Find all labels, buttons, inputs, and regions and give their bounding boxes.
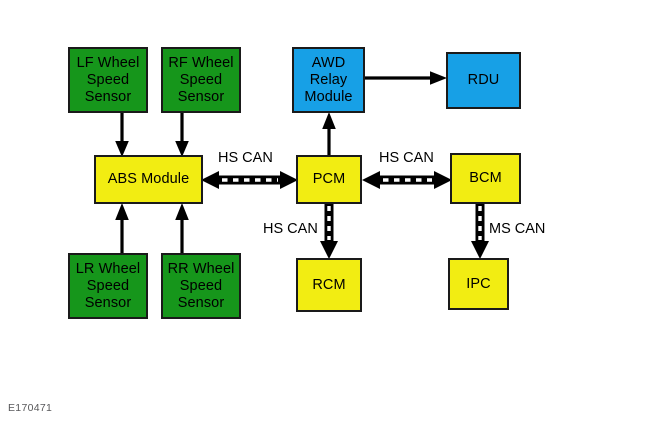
reference-code: E170471: [8, 402, 52, 414]
node-rcm: RCM: [296, 258, 362, 312]
connector-pcm-to-awd: [319, 111, 339, 157]
node-rf-wheel-speed-sensor: RF Wheel Speed Sensor: [161, 47, 241, 113]
connector-bcm-to-ipc-ms-can: [470, 203, 490, 260]
node-label-line: Speed: [180, 72, 222, 89]
edge-label-bcm-ipc: MS CAN: [489, 221, 545, 237]
edge-label-pcm-bcm: HS CAN: [379, 150, 434, 166]
node-label-line: Sensor: [85, 295, 132, 312]
connector-abs-to-pcm-hs-can: [201, 170, 298, 190]
edge-label-abs-pcm: HS CAN: [218, 150, 273, 166]
diagram-canvas: LF Wheel Speed Sensor RF Wheel Speed Sen…: [0, 0, 650, 426]
connector-rr-sensor-to-abs: [172, 201, 192, 255]
connector-pcm-to-rcm-hs-can: [319, 203, 339, 260]
node-label-line: RR Wheel: [168, 261, 235, 278]
node-rr-wheel-speed-sensor: RR Wheel Speed Sensor: [161, 253, 241, 319]
node-label-line: Speed: [87, 72, 129, 89]
node-label-line: Sensor: [178, 89, 225, 106]
connector-lr-sensor-to-abs: [112, 201, 132, 255]
node-label-line: ABS Module: [108, 171, 190, 188]
node-pcm: PCM: [296, 155, 362, 204]
node-label-line: RDU: [468, 72, 500, 89]
node-ipc: IPC: [448, 258, 509, 310]
node-label-line: Relay: [310, 72, 348, 89]
node-bcm: BCM: [450, 153, 521, 204]
node-label-line: Module: [304, 89, 352, 106]
connector-lf-sensor-to-abs: [112, 111, 132, 159]
node-label-line: LF Wheel: [77, 55, 140, 72]
node-label-line: AWD: [312, 55, 346, 72]
node-label-line: RCM: [312, 277, 345, 294]
node-label-line: Sensor: [178, 295, 225, 312]
node-label-line: Speed: [87, 278, 129, 295]
connector-awd-to-rdu: [363, 68, 449, 88]
edge-label-pcm-rcm: HS CAN: [263, 221, 318, 237]
connector-pcm-to-bcm-hs-can: [362, 170, 452, 190]
node-label-line: Speed: [180, 278, 222, 295]
node-label-line: RF Wheel: [168, 55, 233, 72]
connector-rf-sensor-to-abs: [172, 111, 192, 159]
node-rdu: RDU: [446, 52, 521, 109]
node-label-line: Sensor: [85, 89, 132, 106]
node-label-line: LR Wheel: [76, 261, 140, 278]
node-awd-relay-module: AWD Relay Module: [292, 47, 365, 113]
node-label-line: PCM: [313, 171, 346, 188]
node-lf-wheel-speed-sensor: LF Wheel Speed Sensor: [68, 47, 148, 113]
node-label-line: IPC: [466, 276, 490, 293]
node-abs-module: ABS Module: [94, 155, 203, 204]
node-label-line: BCM: [469, 170, 502, 187]
node-lr-wheel-speed-sensor: LR Wheel Speed Sensor: [68, 253, 148, 319]
